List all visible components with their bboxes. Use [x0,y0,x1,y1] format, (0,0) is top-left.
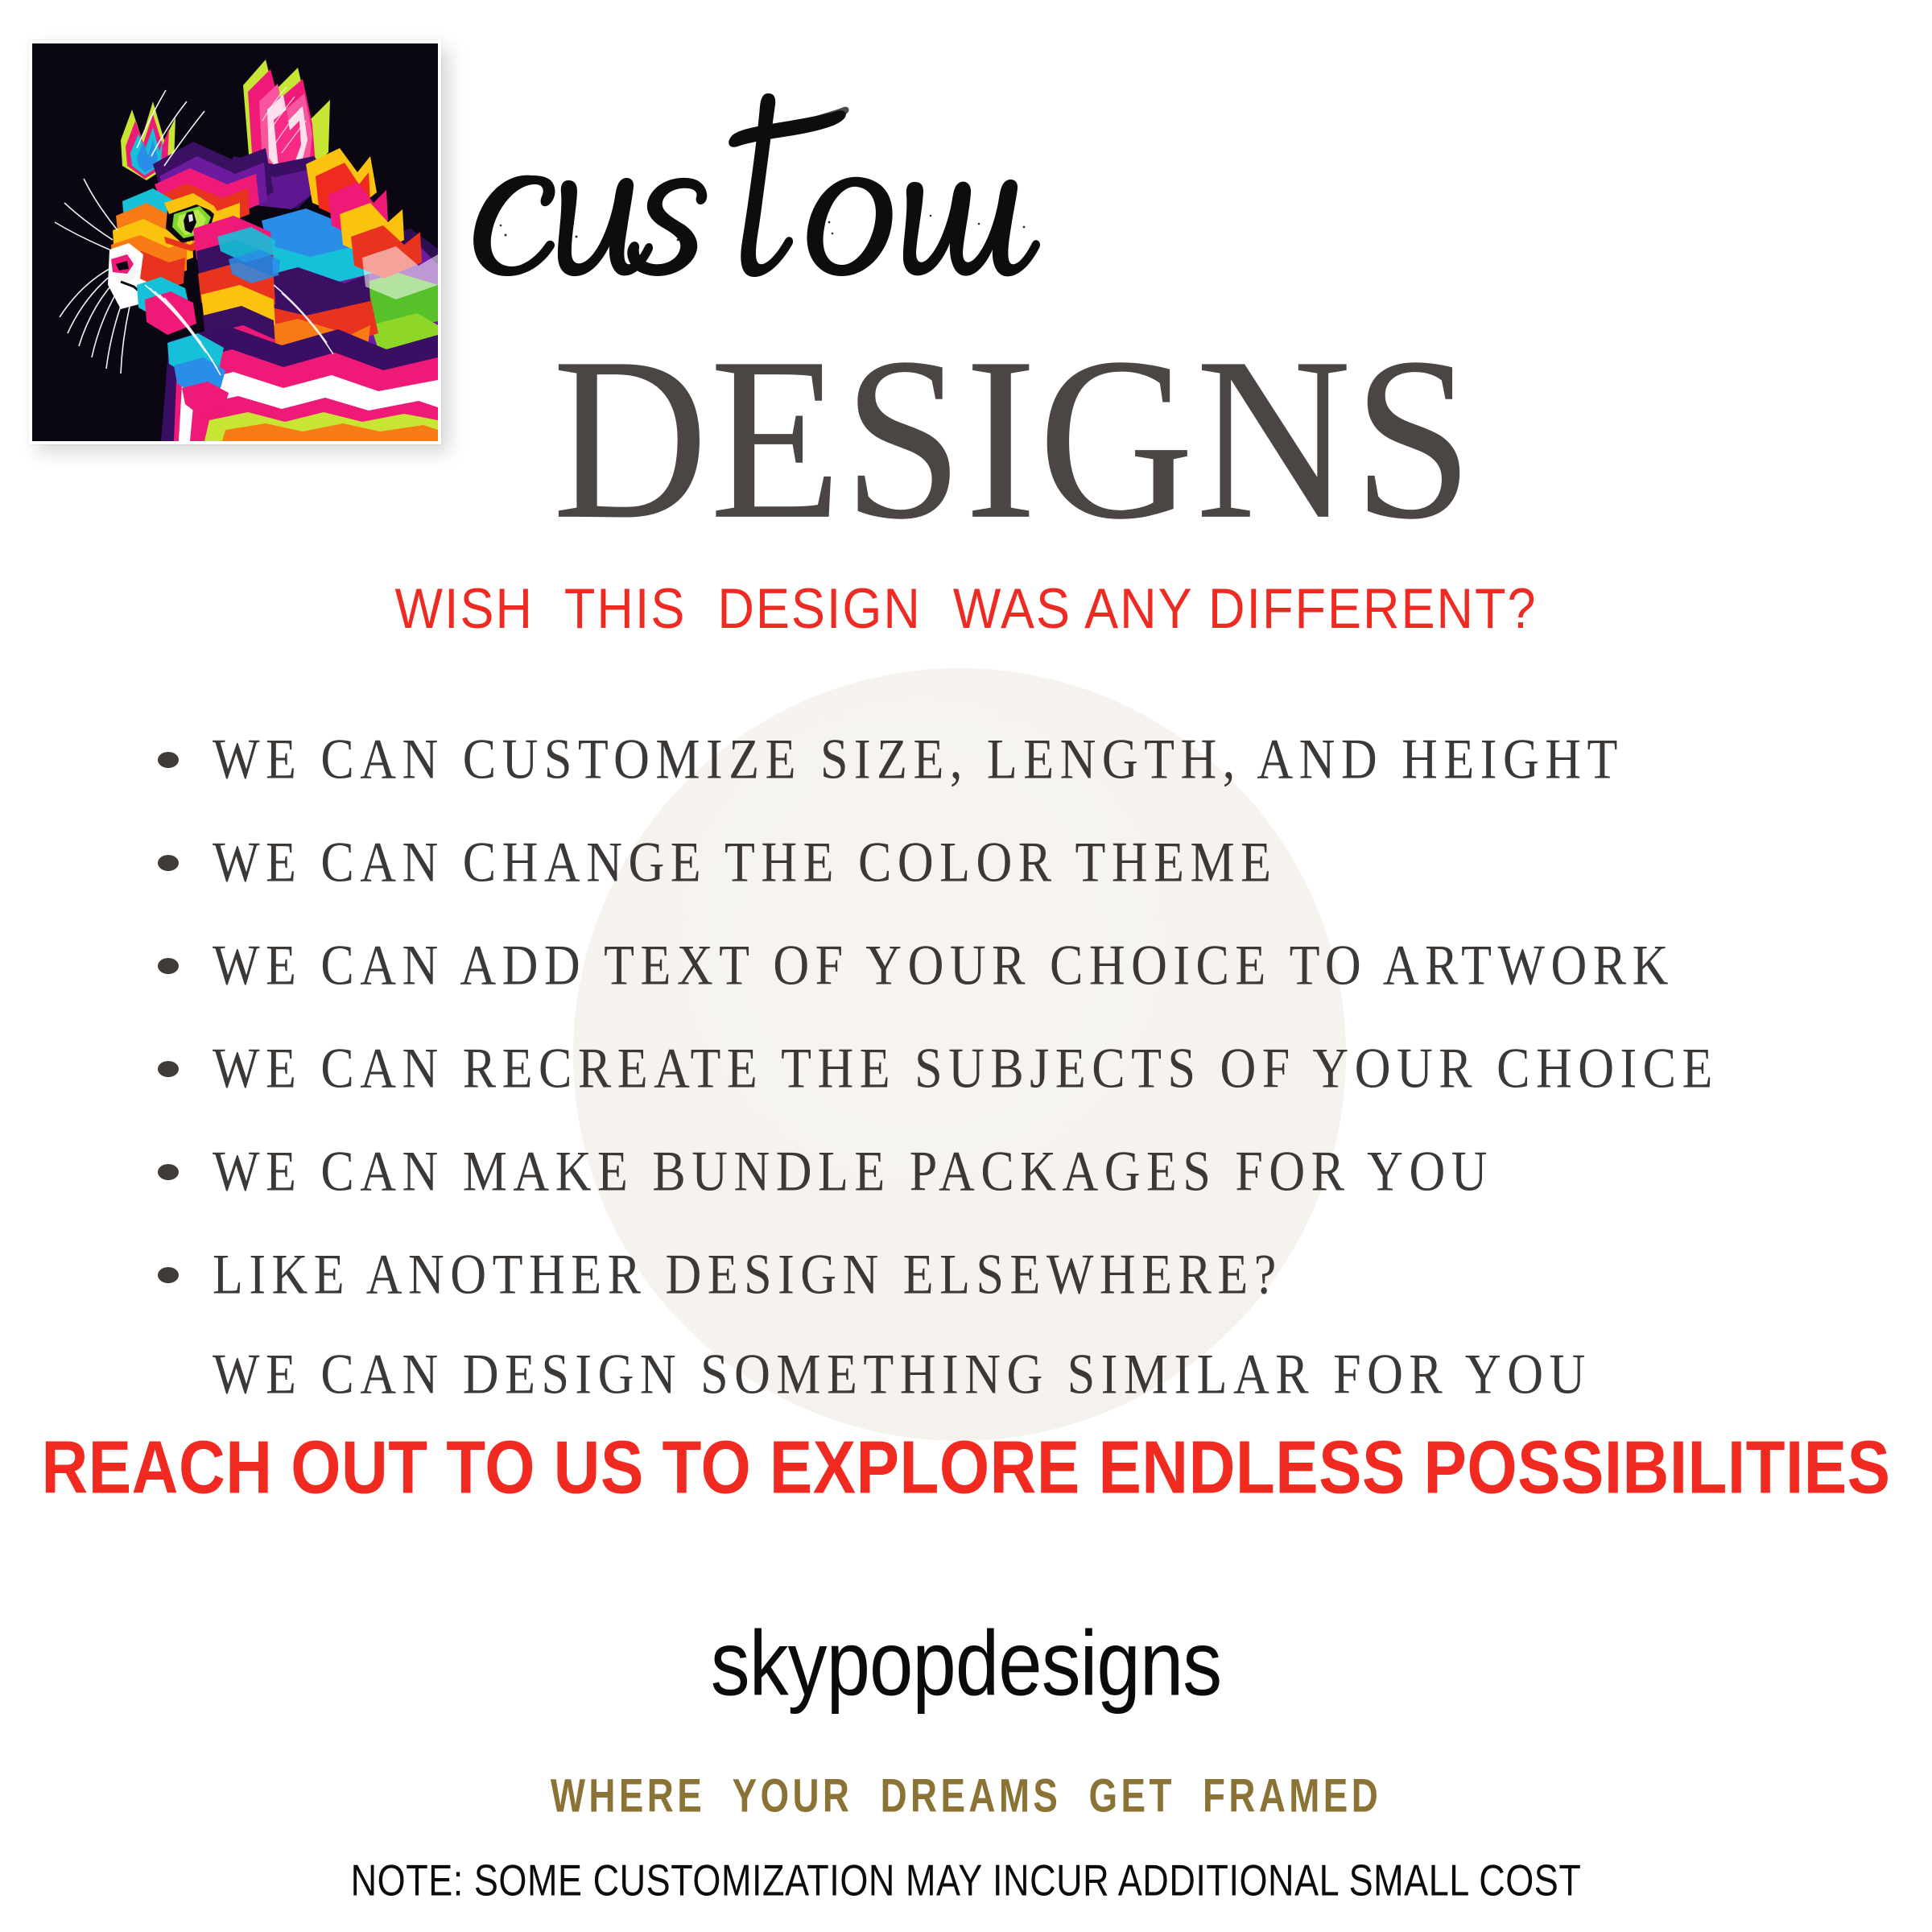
feature-list: WE CAN CUSTOMIZE SIZE, LENGTH, AND HEIGH… [158,708,1864,1423]
bullet-dot-icon [158,1267,179,1283]
call-to-action-text: REACH OUT TO US TO EXPLORE ENDLESS POSSI… [0,1425,1932,1511]
bullet-dot-icon [158,958,179,974]
brand-logo-text: skypopdesigns [58,1612,1874,1717]
list-item: WE CAN ADD TEXT OF YOUR CHOICE TO ARTWOR… [158,914,1864,1018]
list-item: WE CAN RECREATE THE SUBJECTS OF YOUR CHO… [158,1018,1864,1121]
tagline-question: WISH THIS DESIGN WAS ANY DIFFERENT? [0,576,1932,642]
promo-poster: DESIGNS WISH THIS DESIGN WAS ANY DIFFERE… [0,0,1932,1932]
list-item-label: LIKE ANOTHER DESIGN ELSEWHERE? [213,1243,1282,1308]
page-title: DESIGNS [0,322,1932,538]
brand-tagline: WHERE YOUR DREAMS GET FRAMED [116,1769,1816,1823]
footnote-text: NOTE: SOME CUSTOMIZATION MAY INCUR ADDIT… [97,1855,1835,1906]
script-headline-custom [448,74,1092,316]
bullet-dot-icon [158,1061,179,1077]
list-item: WE CAN CUSTOMIZE SIZE, LENGTH, AND HEIGH… [158,708,1864,811]
list-item-label: WE CAN RECREATE THE SUBJECTS OF YOUR CHO… [213,1037,1719,1102]
bullet-dot-icon [158,1164,179,1180]
list-item-label: WE CAN MAKE BUNDLE PACKAGES FOR YOU [213,1140,1493,1205]
list-item: WE CAN CHANGE THE COLOR THEME [158,811,1864,914]
bullet-dot-icon [158,752,179,768]
page-title-text: DESIGNS [552,322,1475,555]
list-item-continuation: WE CAN DESIGN SOMETHING SIMILAR FOR YOU [158,1327,1864,1423]
bullet-dot-icon [158,855,179,871]
list-item-label: WE CAN CUSTOMIZE SIZE, LENGTH, AND HEIGH… [213,728,1624,793]
list-item-continuation-label: WE CAN DESIGN SOMETHING SIMILAR FOR YOU [213,1343,1591,1408]
list-item-label: WE CAN CHANGE THE COLOR THEME [213,831,1278,896]
list-item: WE CAN MAKE BUNDLE PACKAGES FOR YOU [158,1121,1864,1224]
list-item-label: WE CAN ADD TEXT OF YOUR CHOICE TO ARTWOR… [213,934,1674,999]
list-item: LIKE ANOTHER DESIGN ELSEWHERE? [158,1224,1864,1327]
